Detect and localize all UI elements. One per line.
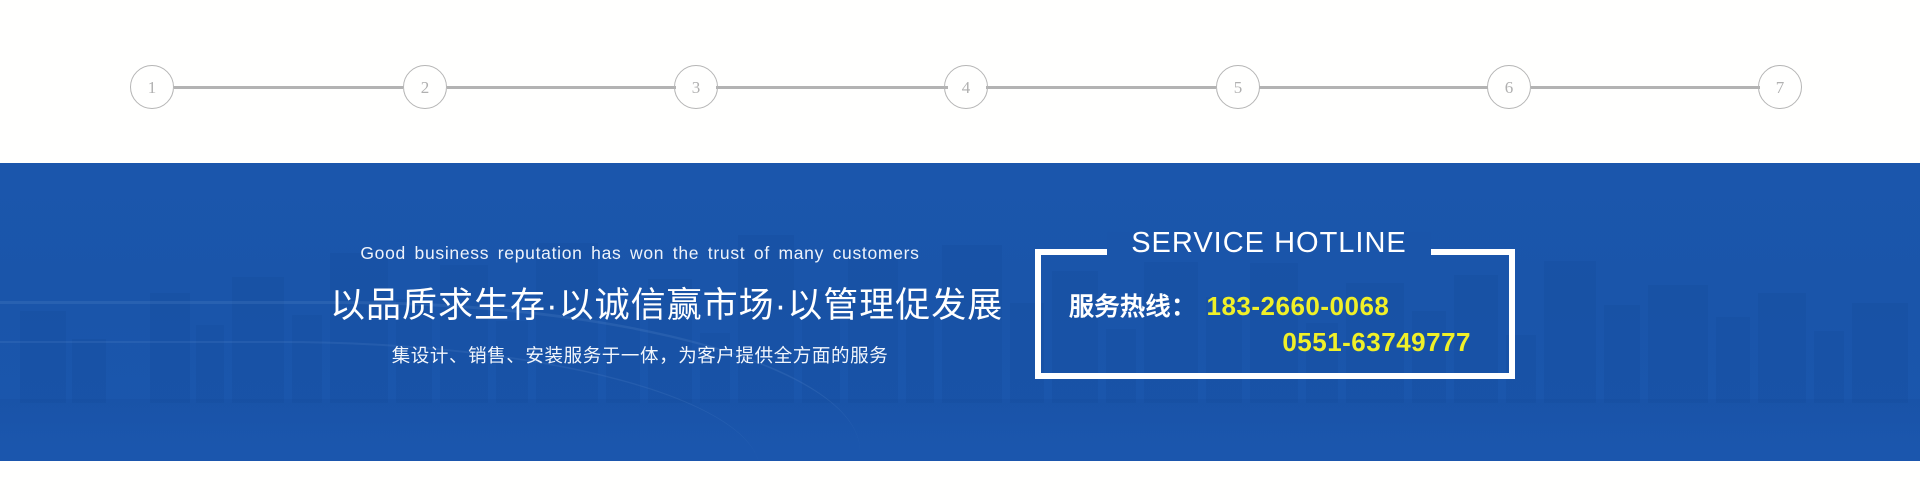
step-label-1: 1	[148, 79, 157, 96]
step-connector-4-5	[986, 86, 1216, 89]
step-connector-1-2	[174, 86, 403, 89]
step-node-4[interactable]: 4	[944, 65, 988, 109]
hotline-label: 服务热线：	[1069, 287, 1197, 323]
hotline-title: SERVICE HOTLINE	[1107, 227, 1431, 260]
hotline-row-primary: 服务热线： 183-2660-0068	[1069, 287, 1493, 323]
hotline-numbers: 服务热线： 183-2660-0068 0551-63749777	[1035, 287, 1515, 358]
step-label-4: 4	[962, 79, 971, 96]
blue-promo-band: Good business reputation has won the tru…	[0, 163, 1920, 461]
step-connector-6-7	[1531, 86, 1760, 89]
step-node-5[interactable]: 5	[1216, 65, 1260, 109]
slogan-chinese-main: 以品质求生存·以诚信赢市场·以管理促发展	[330, 277, 950, 328]
step-node-7[interactable]: 7	[1758, 65, 1802, 109]
step-label-3: 3	[692, 79, 701, 96]
slogan-chinese-sub: 集设计、销售、安装服务于一体，为客户提供全方面的服务	[330, 342, 950, 368]
step-connector-2-3	[447, 86, 676, 89]
hotline-number-secondary[interactable]: 0551-63749777	[1282, 327, 1471, 358]
step-label-2: 2	[421, 79, 430, 96]
step-label-7: 7	[1776, 79, 1785, 96]
slogan-block: Good business reputation has won the tru…	[330, 243, 950, 368]
step-node-3[interactable]: 3	[674, 65, 718, 109]
hotline-row-secondary: 0551-63749777	[1069, 327, 1493, 358]
bottom-white-strip	[0, 461, 1920, 500]
step-progress-bar: 1 2 3 4 5 6 7	[0, 0, 1920, 163]
step-node-1[interactable]: 1	[130, 65, 174, 109]
service-hotline-box: SERVICE HOTLINE 服务热线： 183-2660-0068 0551…	[1035, 249, 1515, 379]
step-label-6: 6	[1505, 79, 1514, 96]
step-node-2[interactable]: 2	[403, 65, 447, 109]
step-connector-5-6	[1259, 86, 1488, 89]
step-connector-3-4	[716, 86, 948, 89]
slogan-english: Good business reputation has won the tru…	[330, 243, 950, 264]
step-label-5: 5	[1234, 79, 1243, 96]
hotline-number-primary[interactable]: 183-2660-0068	[1207, 291, 1390, 322]
step-node-6[interactable]: 6	[1487, 65, 1531, 109]
promo-banner-page: 1 2 3 4 5 6 7	[0, 0, 1920, 500]
